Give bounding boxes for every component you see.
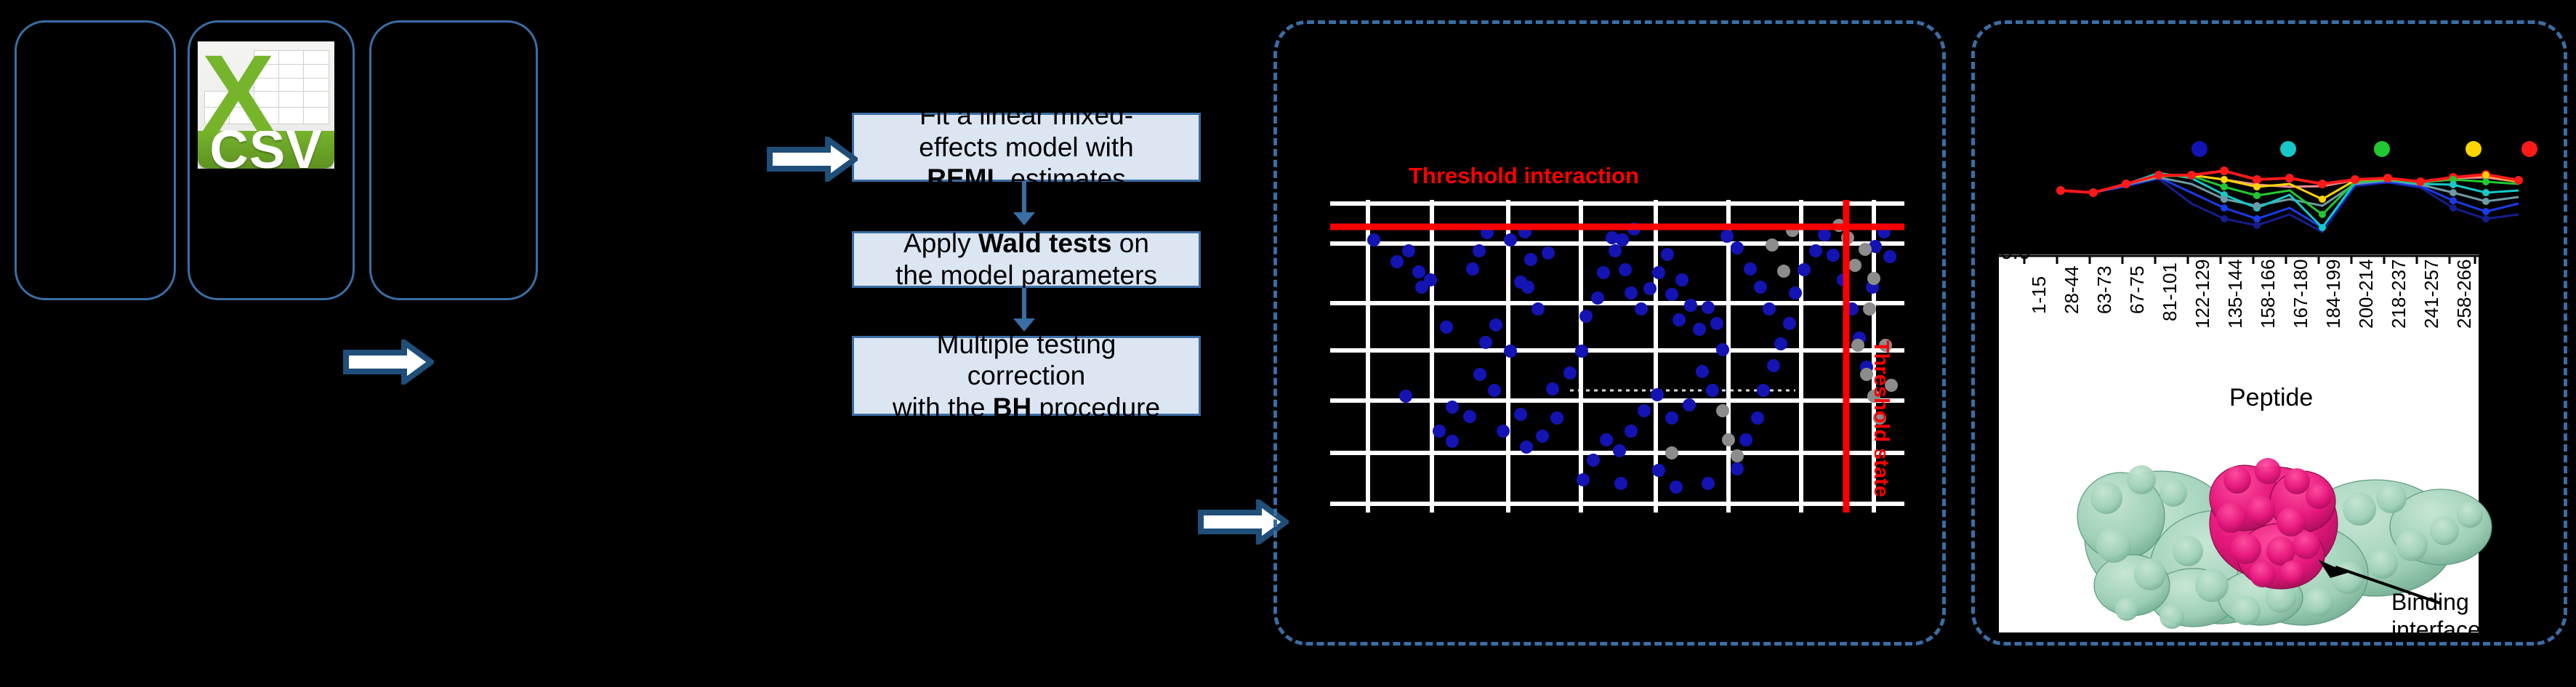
peptide-tick: 218-237 (2388, 260, 2410, 329)
peptide-line-chart (1992, 138, 2551, 254)
scatter-plot (1330, 200, 1904, 513)
peptide-tick: 184-199 (2322, 260, 2345, 329)
excel-x-letter-icon: X (202, 44, 275, 142)
scatter-title: Threshold interaction (1409, 163, 1639, 189)
peptide-tick: 241-257 (2420, 260, 2443, 329)
peptide-tick: 122-129 (2191, 260, 2214, 329)
step-multiple-testing: Multiple testingcorrectionwith the BH pr… (852, 336, 1201, 416)
peptide-chart-svg (1992, 138, 2551, 254)
peptide-tick: 63-73 (2093, 266, 2116, 315)
binding-interface-annotation: Binding interface (2391, 589, 2481, 644)
connector-1-tip (1013, 212, 1035, 225)
legend-markers (2191, 141, 2537, 157)
peptide-tick: 67-75 (2126, 266, 2149, 315)
peptide-axis-title: Peptide (2229, 384, 2313, 412)
peptide-tick: 167-180 (2290, 260, 2312, 329)
peptide-tick: 28-44 (2061, 266, 2083, 315)
arrow-into-fit-model (767, 137, 858, 182)
peptide-tick: 258-266 (2453, 260, 2476, 329)
peptide-tick: 81-101 (2159, 262, 2181, 321)
step-wald-tests-text: Apply Wald tests onthe model parameters (895, 228, 1157, 291)
peptide-tick: 158-166 (2257, 260, 2279, 329)
connector-2 (1022, 288, 1026, 318)
csv-file-icon: X CSV (198, 41, 334, 169)
peptide-tick: 1-15 (2028, 276, 2050, 314)
peptide-tick: 135-144 (2224, 260, 2247, 329)
connector-1 (1022, 182, 1026, 212)
peptide-tick: 277-284 (2482, 260, 2505, 329)
arrow-csv-to-stats (343, 340, 434, 385)
peptide-tick: 200-214 (2355, 260, 2378, 329)
scatter-svg (1330, 200, 1904, 513)
step-fit-model-text: Fit a linear mixed-effects model withREM… (919, 100, 1133, 195)
step-wald-tests: Apply Wald tests onthe model parameters (852, 231, 1201, 288)
step-fit-model: Fit a linear mixed-effects model withREM… (852, 113, 1201, 182)
step-multiple-testing-text: Multiple testingcorrectionwith the BH pr… (893, 329, 1160, 424)
panel-input (15, 20, 176, 300)
csv-icon-body: X CSV (198, 41, 334, 169)
threshold-state-label: Threshold state (1869, 340, 1893, 497)
panel-stats (369, 20, 538, 300)
